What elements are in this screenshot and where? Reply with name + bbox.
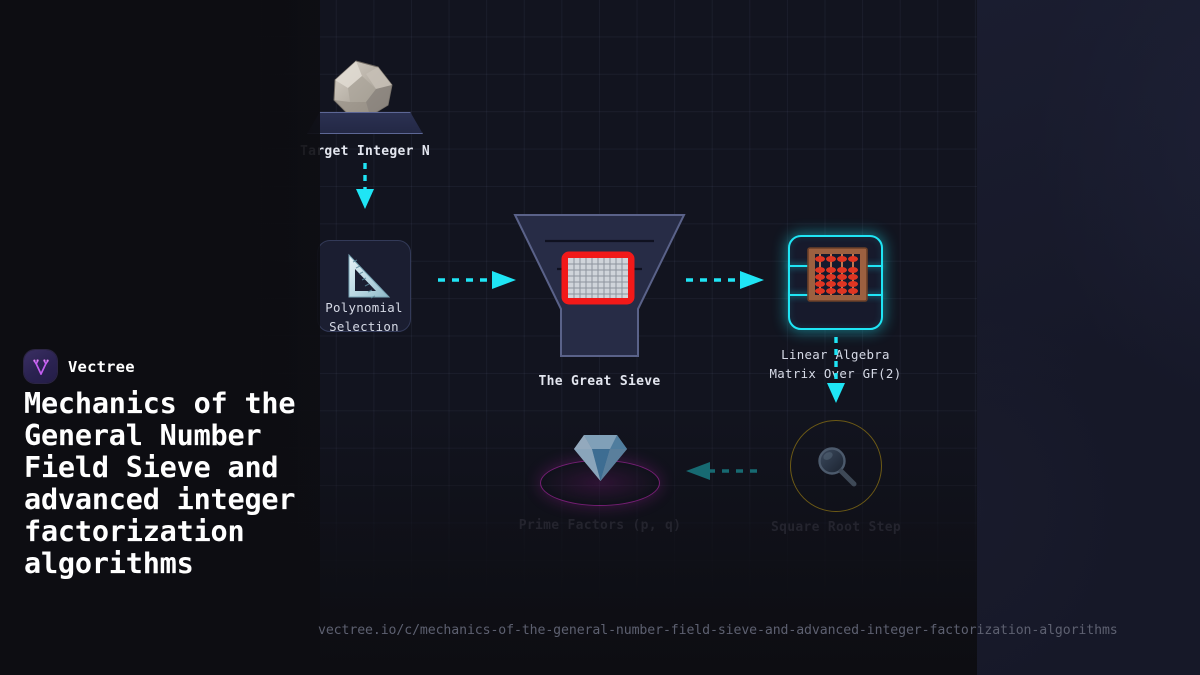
connector-target-to-polynomial (350, 163, 380, 215)
slide-canvas: Target Integer N (0, 0, 1200, 675)
diagram-node-great-sieve[interactable]: The Great Sieve (513, 213, 686, 358)
connector-linear-algebra-to-square-root (821, 337, 851, 409)
funnel-sieve-mesh-icon (513, 213, 686, 358)
abacus-icon (807, 247, 868, 306)
brand-name: Vectree (68, 358, 135, 376)
target-platform-shape (307, 112, 423, 134)
page-url: vectree.io/c/mechanics-of-the-general-nu… (318, 623, 1118, 638)
vectree-tree-logo-icon (24, 350, 57, 383)
connector-polynomial-to-sieve (438, 268, 518, 296)
connector-square-root-to-prime-factors (682, 459, 764, 487)
diagram-node-linear-algebra[interactable]: Linear Algebra Matrix Over GF(2) (788, 235, 883, 330)
diagram-node-square-root-step[interactable]: Square Root Step (790, 420, 882, 512)
diamond-gem-icon (573, 431, 628, 487)
node-label-square-root-step: Square Root Step (771, 519, 901, 537)
brand-block: Vectree (24, 350, 135, 383)
node-label-prime-factors: Prime Factors (p, q) (519, 517, 682, 535)
node-label-polynomial-selection: Polynomial Selection (325, 299, 403, 337)
connector-sieve-to-linear-algebra (686, 268, 766, 296)
ambient-right-panel (977, 0, 1200, 675)
node-label-great-sieve: The Great Sieve (539, 373, 661, 391)
diagram-node-polynomial-selection[interactable]: Polynomial Selection (317, 240, 411, 332)
magnifying-glass-icon (815, 445, 859, 493)
page-title: Mechanics of the General Number Field Si… (24, 388, 324, 579)
diagram-node-prime-factors[interactable]: Prime Factors (p, q) (535, 425, 665, 515)
node-label-polynomial-line1: Polynomial (325, 300, 403, 315)
node-label-polynomial-line2: Selection (329, 319, 399, 334)
